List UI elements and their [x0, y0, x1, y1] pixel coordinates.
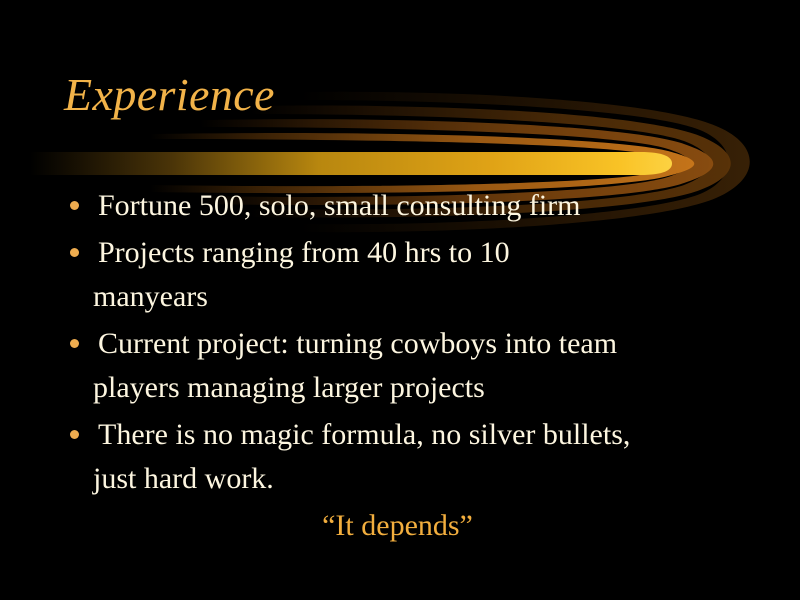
- bullet-line-wrapped: manyears: [93, 275, 762, 319]
- bullet-dot-icon: [70, 248, 79, 257]
- slide-body: Fortune 500, solo, small consulting firm…: [62, 184, 762, 503]
- presentation-slide: Experience Fortune 500, solo, small cons…: [0, 0, 800, 600]
- bullet-item: Projects ranging from 40 hrs to 10 manye…: [62, 231, 762, 319]
- bullet-dot-icon: [70, 339, 79, 348]
- bullet-line-wrapped: just hard work.: [93, 457, 762, 501]
- bullet-line: There is no magic formula, no silver bul…: [98, 413, 762, 457]
- bullet-dot-icon: [70, 430, 79, 439]
- slide-title: Experience: [64, 72, 275, 118]
- closing-quote: “It depends”: [0, 506, 795, 546]
- bullet-line: Projects ranging from 40 hrs to 10: [98, 231, 762, 275]
- bullet-item: Fortune 500, solo, small consulting firm: [62, 184, 762, 228]
- bullet-line-wrapped: players managing larger projects: [93, 366, 762, 410]
- bullet-line: Current project: turning cowboys into te…: [98, 322, 762, 366]
- bullet-line: Fortune 500, solo, small consulting firm: [98, 184, 762, 228]
- bullet-item: There is no magic formula, no silver bul…: [62, 413, 762, 501]
- bullet-dot-icon: [70, 201, 79, 210]
- bullet-item: Current project: turning cowboys into te…: [62, 322, 762, 410]
